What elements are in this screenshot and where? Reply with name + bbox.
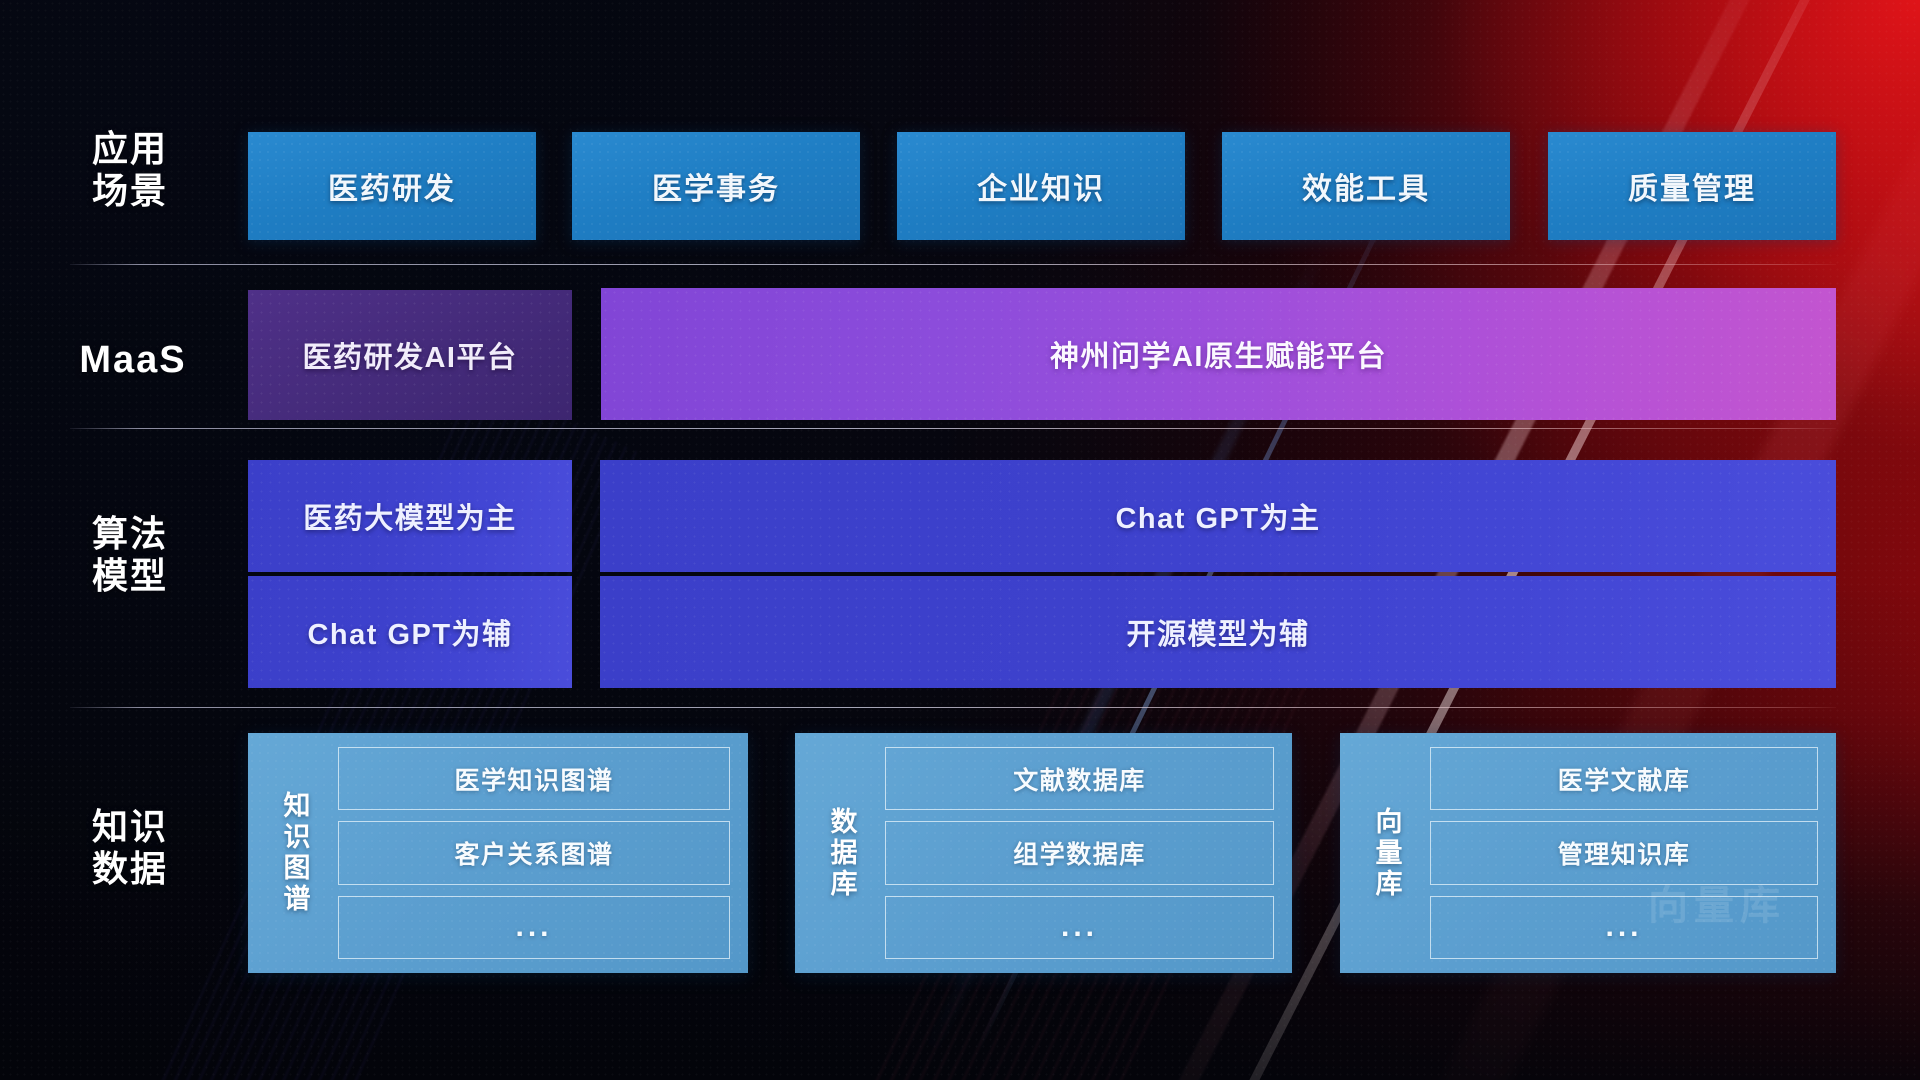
scenario-card-quality-management[interactable]: 质量管理 — [1548, 132, 1836, 240]
knowledge-item-more[interactable]: ... — [338, 896, 730, 959]
divider-1 — [70, 264, 1836, 265]
scenario-card-enterprise-knowledge[interactable]: 企业知识 — [897, 132, 1185, 240]
algo-card-label: 开源模型为辅 — [1126, 611, 1309, 653]
divider-3 — [70, 707, 1836, 708]
divider-2 — [70, 428, 1836, 429]
row-label-application-scenarios: 应用 场景 — [70, 128, 190, 213]
algo-card-open-source-secondary[interactable]: 开源模型为辅 — [600, 576, 1836, 688]
scenario-card-medicine-rd[interactable]: 医药研发 — [248, 132, 536, 240]
scenario-card-label: 效能工具 — [1302, 164, 1430, 208]
knowledge-item[interactable]: 客户关系图谱 — [338, 821, 730, 884]
knowledge-item[interactable]: 组学数据库 — [885, 821, 1274, 884]
knowledge-item[interactable]: 文献数据库 — [885, 747, 1274, 810]
algo-card-chatgpt-primary[interactable]: Chat GPT为主 — [600, 460, 1836, 572]
algo-card-label: 医药大模型为主 — [303, 495, 517, 537]
algo-card-chatgpt-secondary[interactable]: Chat GPT为辅 — [248, 576, 572, 688]
maas-card-label: 神州问学AI原生赋能平台 — [1050, 333, 1387, 375]
knowledge-panel-vertical-label: 数据库 — [809, 747, 873, 959]
scenario-card-label: 质量管理 — [1628, 164, 1756, 208]
maas-card-label: 医药研发AI平台 — [302, 334, 517, 376]
knowledge-panel-vertical-label: 知识图谱 — [262, 747, 326, 959]
maas-card-medicine-rd-platform[interactable]: 医药研发AI平台 — [248, 290, 572, 420]
row-label-knowledge-data: 知识 数据 — [70, 806, 190, 891]
maas-card-shenzhou-wenxue-platform[interactable]: 神州问学AI原生赋能平台 — [601, 288, 1836, 420]
row-label-maas: MaaS — [62, 338, 204, 383]
knowledge-panel-vector-store[interactable]: 向量库 医学文献库 管理知识库 ... — [1340, 733, 1836, 973]
algo-card-medicine-large-model-primary[interactable]: 医药大模型为主 — [248, 460, 572, 572]
scenario-card-medical-affairs[interactable]: 医学事务 — [572, 132, 860, 240]
scenario-card-efficiency-tools[interactable]: 效能工具 — [1222, 132, 1510, 240]
scenario-card-label: 企业知识 — [977, 164, 1105, 208]
knowledge-item-more[interactable]: ... — [1430, 896, 1818, 959]
knowledge-item-more[interactable]: ... — [885, 896, 1274, 959]
knowledge-panel-vertical-label: 向量库 — [1354, 747, 1418, 959]
algo-card-label: Chat GPT为主 — [1115, 495, 1320, 537]
scenario-card-label: 医学事务 — [652, 164, 780, 208]
row-label-algorithm-models: 算法 模型 — [70, 513, 190, 598]
knowledge-panel-database[interactable]: 数据库 文献数据库 组学数据库 ... — [795, 733, 1292, 973]
knowledge-panel-knowledge-graph[interactable]: 知识图谱 医学知识图谱 客户关系图谱 ... — [248, 733, 748, 973]
algo-card-label: Chat GPT为辅 — [307, 611, 512, 653]
knowledge-item[interactable]: 医学文献库 — [1430, 747, 1818, 810]
knowledge-item[interactable]: 医学知识图谱 — [338, 747, 730, 810]
knowledge-item[interactable]: 管理知识库 — [1430, 821, 1818, 884]
scenario-card-label: 医药研发 — [328, 164, 456, 208]
